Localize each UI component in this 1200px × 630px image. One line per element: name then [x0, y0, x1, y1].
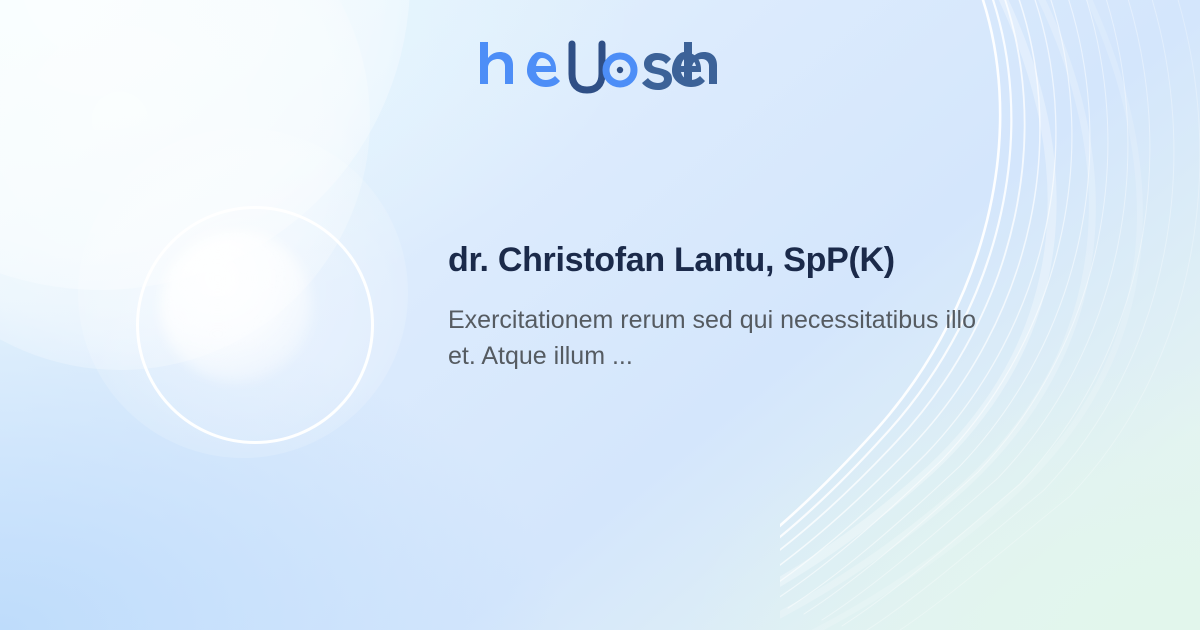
decorative-ring-core [160, 230, 312, 382]
decorative-glow-circle-md [78, 128, 408, 458]
decorative-ring [136, 206, 374, 444]
hellosehat-logo-icon [478, 40, 722, 96]
page-title: dr. Christofan Lantu, SpP(K) [448, 240, 1008, 280]
brand-logo[interactable] [0, 40, 1200, 96]
share-card-canvas: dr. Christofan Lantu, SpP(K) Exercitatio… [0, 0, 1200, 630]
card-content: dr. Christofan Lantu, SpP(K) Exercitatio… [448, 240, 1008, 375]
page-description: Exercitationem rerum sed qui necessitati… [448, 302, 988, 375]
